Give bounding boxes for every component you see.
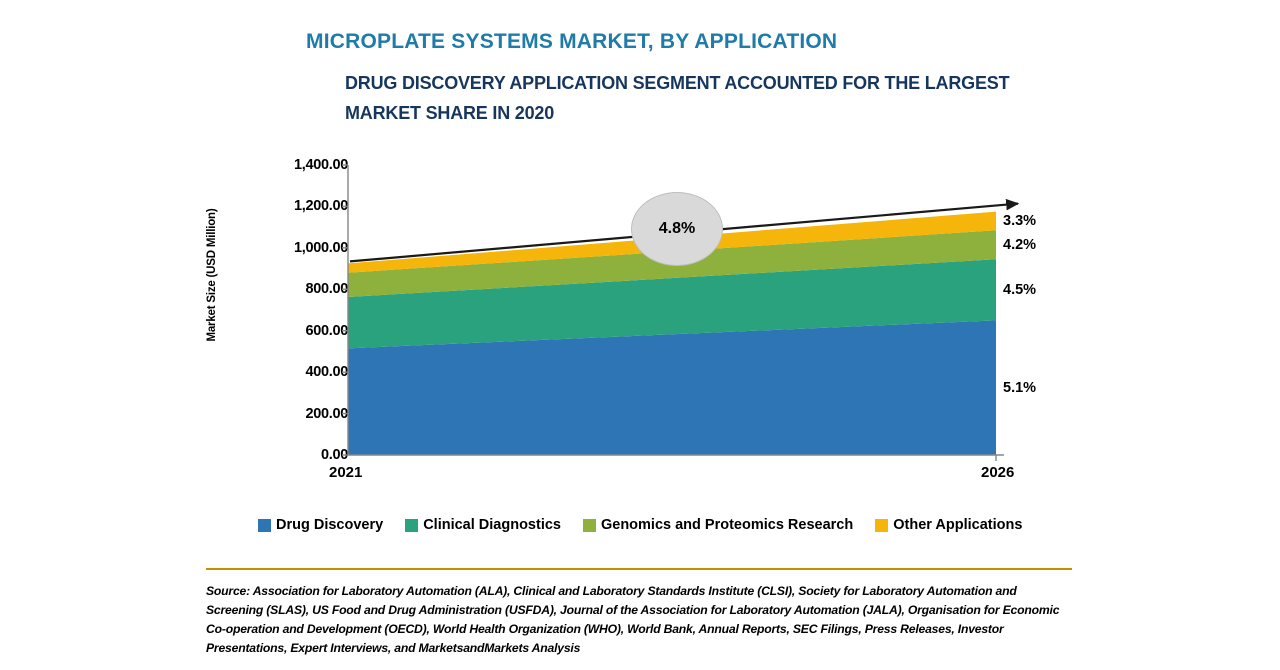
legend-label: Drug Discovery <box>276 517 383 533</box>
cagr-label-other-applications: 3.3% <box>1003 213 1036 229</box>
overall-cagr-bubble: 4.8% <box>631 192 723 266</box>
x-axis-tick-2021: 2021 <box>329 464 362 481</box>
chart-legend: Drug DiscoveryClinical DiagnosticsGenomi… <box>258 517 1022 533</box>
legend-item-clinical-diagnostics[interactable]: Clinical Diagnostics <box>405 517 561 533</box>
legend-item-other-applications[interactable]: Other Applications <box>875 517 1022 533</box>
legend-item-genomics-and-proteomics-research[interactable]: Genomics and Proteomics Research <box>583 517 853 533</box>
chart-page: MICROPLATE SYSTEMS MARKET, BY APPLICATIO… <box>0 0 1280 670</box>
legend-swatch-icon <box>875 519 888 532</box>
legend-label: Genomics and Proteomics Research <box>601 517 853 533</box>
legend-swatch-icon <box>583 519 596 532</box>
legend-swatch-icon <box>258 519 271 532</box>
legend-swatch-icon <box>405 519 418 532</box>
cagr-label-drug-discovery: 5.1% <box>1003 380 1036 396</box>
source-note: Source: Association for Laboratory Autom… <box>206 582 1074 658</box>
legend-label: Clinical Diagnostics <box>423 517 561 533</box>
cagr-label-genomics-and-proteomics-research: 4.2% <box>1003 237 1036 253</box>
footer-divider <box>206 568 1072 570</box>
cagr-label-clinical-diagnostics: 4.5% <box>1003 282 1036 298</box>
legend-item-drug-discovery[interactable]: Drug Discovery <box>258 517 383 533</box>
x-axis-tick-2026: 2026 <box>981 464 1014 481</box>
legend-label: Other Applications <box>893 517 1022 533</box>
